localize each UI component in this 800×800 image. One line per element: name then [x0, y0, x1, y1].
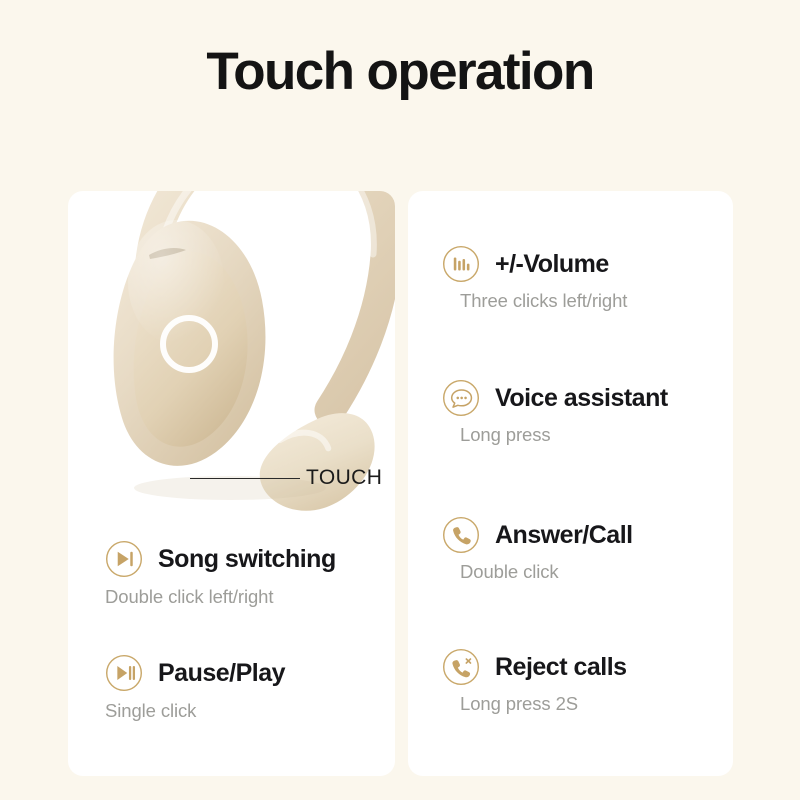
- feature-title: +/-Volume: [495, 249, 609, 279]
- phone-answer-icon: [442, 516, 480, 554]
- feature-subtitle: Double click: [460, 560, 767, 584]
- touch-callout-label: TOUCH: [306, 466, 382, 490]
- feature-subtitle: Three clicks left/right: [460, 289, 767, 313]
- skip-forward-icon: [105, 540, 143, 578]
- feature-title: Song switching: [158, 544, 336, 574]
- feature-volume[interactable]: +/-Volume Three clicks left/right: [408, 245, 767, 313]
- feature-subtitle: Long press 2S: [460, 692, 767, 716]
- feature-voice-assistant[interactable]: Voice assistant Long press: [408, 379, 767, 447]
- feature-title: Voice assistant: [495, 383, 668, 413]
- feature-subtitle: Single click: [105, 699, 432, 723]
- left-feature-card: TOUCH Song switching Double click left/r…: [68, 191, 395, 776]
- feature-title: Reject calls: [495, 652, 627, 682]
- feature-reject-calls[interactable]: Reject calls Long press 2S: [408, 648, 767, 716]
- volume-bars-icon: [442, 245, 480, 283]
- feature-subtitle: Long press: [460, 423, 767, 447]
- feature-answer-call[interactable]: Answer/Call Double click: [408, 516, 767, 584]
- speech-bubble-icon: [442, 379, 480, 417]
- right-feature-card: +/-Volume Three clicks left/right Voice …: [408, 191, 733, 776]
- phone-reject-icon: [442, 648, 480, 686]
- feature-title: Pause/Play: [158, 658, 285, 688]
- infographic-page: Touch operation: [0, 0, 800, 800]
- feature-title: Answer/Call: [495, 520, 633, 550]
- feature-pause-play[interactable]: Pause/Play Single click: [68, 654, 432, 723]
- touch-callout-line: [190, 478, 300, 479]
- play-pause-icon: [105, 654, 143, 692]
- feature-subtitle: Double click left/right: [105, 585, 432, 609]
- feature-song-switching[interactable]: Song switching Double click left/right: [68, 540, 432, 609]
- product-illustration: [68, 191, 395, 551]
- page-title: Touch operation: [0, 42, 800, 102]
